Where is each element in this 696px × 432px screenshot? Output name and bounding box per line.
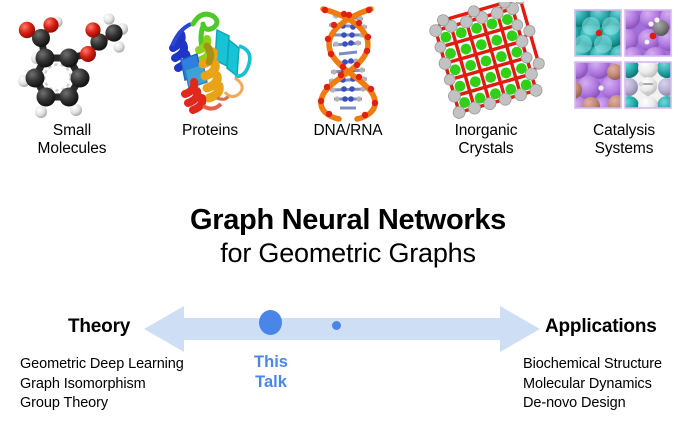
theory-applications-spectrum: Theory Applications — [0, 300, 696, 358]
list-item: Biochemical Structure — [523, 355, 662, 375]
protein-figure — [144, 0, 276, 122]
gallery-item-proteins: Proteins — [144, 0, 276, 140]
spectrum-marker-this-talk — [259, 310, 282, 335]
list-item: Molecular Dynamics — [523, 375, 662, 395]
gallery-caption-proteins: Proteins — [182, 122, 238, 140]
small-molecule-figure — [6, 0, 138, 122]
list-item: De-novo Design — [523, 394, 662, 414]
gallery-item-small-molecules: Small Molecules — [6, 0, 138, 158]
gallery-caption-catalysis-systems: Catalysis Systems — [593, 122, 655, 158]
title-subtitle: for Geometric Graphs — [0, 237, 696, 269]
this-talk-line: Talk — [232, 372, 310, 392]
applications-topics-list: Biochemical Structure Molecular Dynamics… — [523, 355, 662, 414]
caption-line: Inorganic — [455, 122, 518, 140]
gallery-caption-small-molecules: Small Molecules — [38, 122, 107, 158]
this-talk-label: This Talk — [232, 352, 310, 392]
small-molecule-structure-icon — [13, 2, 131, 120]
dna-figure — [282, 0, 414, 122]
theory-topics-list: Geometric Deep Learning Graph Isomorphis… — [20, 355, 184, 414]
caption-line: Proteins — [182, 122, 238, 140]
inorganic-crystal-figure — [420, 0, 552, 122]
caption-line: DNA/RNA — [313, 122, 382, 140]
caption-line: Systems — [593, 140, 655, 158]
caption-line: Crystals — [455, 140, 518, 158]
slide-title-block: Graph Neural Networks for Geometric Grap… — [0, 203, 696, 269]
caption-line: Molecules — [38, 140, 107, 158]
gallery-item-dna-rna: DNA/RNA — [282, 0, 414, 140]
catalysis-surface-grid-icon — [571, 6, 677, 116]
protein-ribbon-structure-icon — [151, 2, 269, 120]
gallery-item-inorganic-crystals: Inorganic Crystals — [420, 0, 552, 158]
gallery-caption-inorganic-crystals: Inorganic Crystals — [455, 122, 518, 158]
gallery-caption-dna-rna: DNA/RNA — [313, 122, 382, 140]
catalysis-figure — [558, 0, 690, 122]
spectrum-label-theory: Theory — [68, 316, 130, 338]
title-main: Graph Neural Networks — [0, 203, 696, 237]
list-item: Geometric Deep Learning — [20, 355, 184, 375]
list-item: Group Theory — [20, 394, 184, 414]
spectrum-label-applications: Applications — [545, 316, 657, 338]
double-headed-arrow-icon — [144, 300, 540, 358]
caption-line: Catalysis — [593, 122, 655, 140]
structure-gallery: Small Molecules — [0, 0, 696, 180]
gallery-item-catalysis-systems: Catalysis Systems — [558, 0, 690, 158]
this-talk-line: This — [232, 352, 310, 372]
caption-line: Small — [38, 122, 107, 140]
inorganic-crystal-lattice-icon — [426, 2, 546, 120]
spectrum-marker-secondary — [332, 321, 341, 330]
dna-double-helix-structure-icon — [289, 0, 407, 123]
list-item: Graph Isomorphism — [20, 375, 184, 395]
